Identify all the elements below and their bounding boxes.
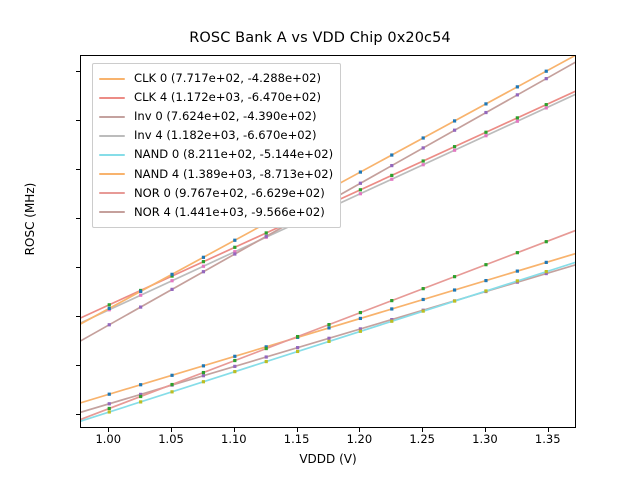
- data-point: [233, 359, 236, 362]
- data-point: [108, 410, 111, 413]
- data-point: [139, 383, 142, 386]
- legend-item-label: CLK 0 (7.717e+02, -4.288e+02): [134, 69, 321, 88]
- data-point: [516, 116, 519, 119]
- data-point: [484, 263, 487, 266]
- data-point: [359, 170, 362, 173]
- x-tick-mark: [234, 428, 235, 432]
- data-point: [484, 102, 487, 105]
- data-point: [202, 371, 205, 374]
- x-tick-mark: [171, 428, 172, 432]
- legend-item-inv-4[interactable]: Inv 4 (1.182e+03, -6.670e+02): [99, 126, 333, 145]
- legend-color-swatch: [99, 116, 125, 118]
- data-point: [170, 390, 173, 393]
- x-tick-label: 1.20: [329, 432, 389, 446]
- legend-item-label: CLK 4 (1.172e+03, -6.470e+02): [134, 88, 321, 107]
- data-point: [327, 340, 330, 343]
- data-point: [202, 256, 205, 259]
- figure-canvas: ROSC Bank A vs VDD Chip 0x20c54 ROSC (MH…: [0, 0, 640, 480]
- data-point: [108, 407, 111, 410]
- legend: CLK 0 (7.717e+02, -4.288e+02)CLK 4 (1.17…: [92, 63, 341, 228]
- data-point: [484, 131, 487, 134]
- data-point: [453, 299, 456, 302]
- x-tick-label: 1.30: [455, 432, 515, 446]
- legend-item-label: NOR 0 (9.767e+02, -6.629e+02): [134, 184, 325, 203]
- series-clk-0: [81, 253, 575, 403]
- legend-item-nor-4[interactable]: NOR 4 (1.441e+03, -9.566e+02): [99, 203, 333, 222]
- data-point: [265, 360, 268, 363]
- data-point: [390, 174, 393, 177]
- data-point: [359, 311, 362, 314]
- data-point: [453, 288, 456, 291]
- data-point: [139, 290, 142, 293]
- data-point: [139, 294, 142, 297]
- data-point: [202, 364, 205, 367]
- data-point: [359, 317, 362, 320]
- data-point: [265, 235, 268, 238]
- data-point: [422, 136, 425, 139]
- data-point: [545, 240, 548, 243]
- data-point: [170, 279, 173, 282]
- legend-item-label: Inv 0 (7.624e+02, -4.390e+02): [134, 107, 317, 126]
- legend-color-swatch: [99, 135, 125, 137]
- data-point: [484, 134, 487, 137]
- data-point: [545, 77, 548, 80]
- data-point: [422, 310, 425, 313]
- x-tick-mark: [108, 428, 109, 432]
- legend-item-nand-4[interactable]: NAND 4 (1.389e+03, -8.713e+02): [99, 164, 333, 183]
- data-point: [139, 305, 142, 308]
- x-tick-label: 1.10: [204, 432, 264, 446]
- data-point: [296, 335, 299, 338]
- data-point: [233, 252, 236, 255]
- data-point: [170, 288, 173, 291]
- legend-color-swatch: [99, 192, 125, 194]
- data-point: [327, 326, 330, 329]
- data-point: [390, 178, 393, 181]
- legend-item-inv-0[interactable]: Inv 0 (7.624e+02, -4.390e+02): [99, 107, 333, 126]
- data-point: [545, 103, 548, 106]
- data-point: [359, 330, 362, 333]
- legend-item-clk-0[interactable]: CLK 0 (7.717e+02, -4.288e+02): [99, 69, 333, 88]
- data-point: [453, 119, 456, 122]
- data-point: [359, 188, 362, 191]
- data-point: [390, 299, 393, 302]
- data-point: [422, 287, 425, 290]
- data-point: [139, 395, 142, 398]
- legend-item-label: Inv 4 (1.182e+03, -6.670e+02): [134, 126, 317, 145]
- data-point: [516, 93, 519, 96]
- data-point: [327, 323, 330, 326]
- data-point: [453, 145, 456, 148]
- x-tick-label: 1.05: [141, 432, 201, 446]
- legend-item-clk-4[interactable]: CLK 4 (1.172e+03, -6.470e+02): [99, 88, 333, 107]
- data-point: [390, 320, 393, 323]
- legend-color-swatch: [99, 211, 125, 213]
- data-point: [453, 275, 456, 278]
- data-point: [545, 270, 548, 273]
- data-point: [516, 85, 519, 88]
- data-point: [545, 106, 548, 109]
- data-point: [422, 298, 425, 301]
- data-point: [265, 347, 268, 350]
- x-tick-mark: [548, 428, 549, 432]
- data-point: [108, 323, 111, 326]
- data-point: [265, 355, 268, 358]
- data-point: [265, 231, 268, 234]
- data-point: [484, 289, 487, 292]
- legend-item-label: NAND 4 (1.389e+03, -8.713e+02): [134, 165, 333, 184]
- data-point: [233, 370, 236, 373]
- data-point: [390, 307, 393, 310]
- series-nor-0: [81, 230, 575, 419]
- x-tick-label: 1.35: [518, 432, 578, 446]
- x-tick-mark: [422, 428, 423, 432]
- series-nand-0: [81, 262, 575, 421]
- data-point: [202, 270, 205, 273]
- data-point: [233, 365, 236, 368]
- legend-item-label: NOR 4 (1.441e+03, -9.566e+02): [134, 203, 325, 222]
- data-point: [108, 307, 111, 310]
- data-point: [516, 120, 519, 123]
- data-point: [516, 279, 519, 282]
- data-point: [327, 337, 330, 340]
- data-point: [545, 70, 548, 73]
- data-point: [422, 159, 425, 162]
- legend-item-nor-0[interactable]: NOR 0 (9.767e+02, -6.629e+02): [99, 184, 333, 203]
- data-point: [108, 303, 111, 306]
- data-point: [202, 265, 205, 268]
- data-point: [484, 111, 487, 114]
- x-tick-mark: [297, 428, 298, 432]
- data-point: [453, 149, 456, 152]
- x-tick-label: 1.25: [392, 432, 452, 446]
- data-point: [202, 374, 205, 377]
- data-point: [233, 246, 236, 249]
- data-point: [516, 251, 519, 254]
- x-tick-mark: [485, 428, 486, 432]
- data-point: [202, 380, 205, 383]
- data-point: [202, 260, 205, 263]
- x-tick-label: 1.00: [78, 432, 138, 446]
- data-point: [139, 400, 142, 403]
- data-point: [422, 163, 425, 166]
- data-point: [108, 393, 111, 396]
- data-point: [233, 239, 236, 242]
- legend-color-swatch: [99, 97, 125, 99]
- data-point: [170, 374, 173, 377]
- data-point: [484, 279, 487, 282]
- data-point: [359, 182, 362, 185]
- data-point: [453, 129, 456, 132]
- data-point: [233, 355, 236, 358]
- data-point: [170, 273, 173, 276]
- data-point: [296, 350, 299, 353]
- legend-item-nand-0[interactable]: NAND 0 (8.211e+02, -5.144e+02): [99, 145, 333, 164]
- data-point: [390, 153, 393, 156]
- data-point: [296, 346, 299, 349]
- data-point: [170, 383, 173, 386]
- legend-color-swatch: [99, 173, 125, 175]
- legend-item-label: NAND 0 (8.211e+02, -5.144e+02): [134, 145, 333, 164]
- x-tick-mark: [359, 428, 360, 432]
- data-point: [516, 270, 519, 273]
- data-point: [359, 192, 362, 195]
- legend-color-swatch: [99, 78, 125, 80]
- data-point: [108, 402, 111, 405]
- data-point: [422, 146, 425, 149]
- data-point: [390, 164, 393, 167]
- data-point: [545, 261, 548, 264]
- x-tick-label: 1.15: [267, 432, 327, 446]
- legend-color-swatch: [99, 154, 125, 156]
